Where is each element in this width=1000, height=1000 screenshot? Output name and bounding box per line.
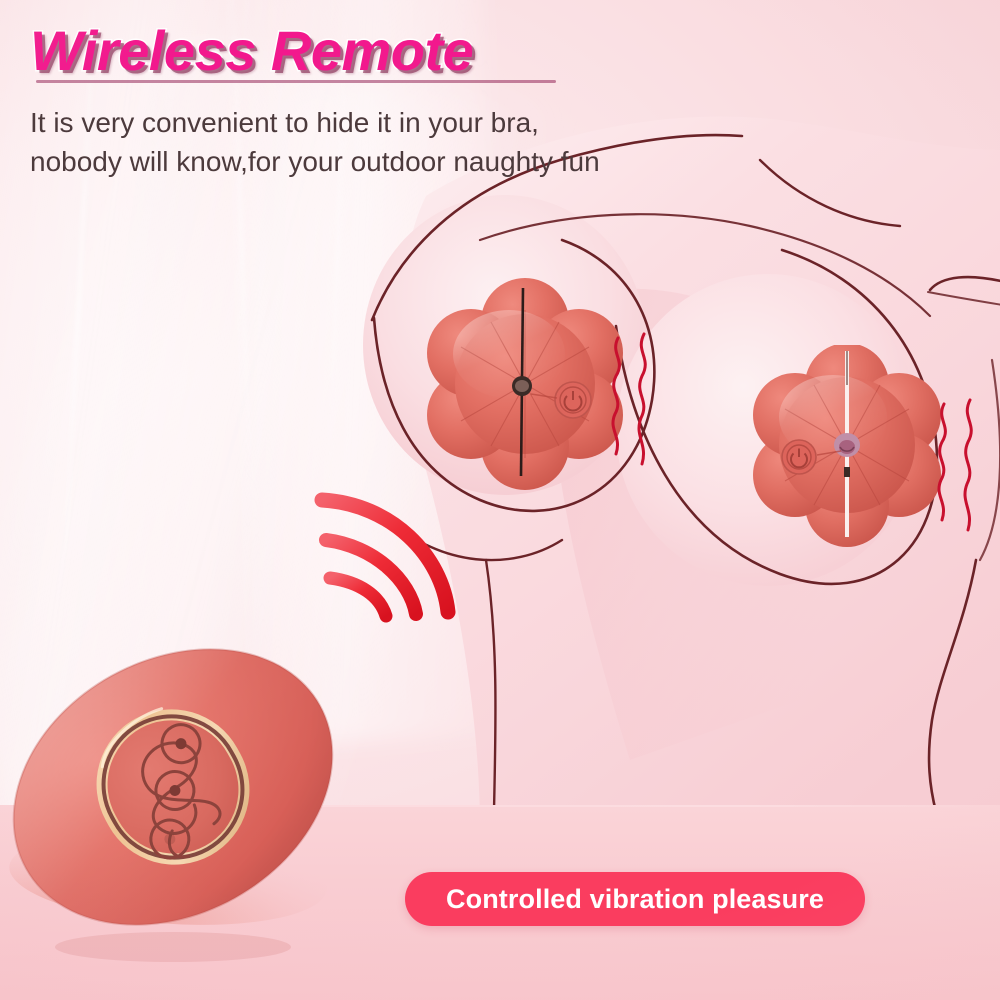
product-image-canvas: Wireless Remote It is very convenient to… — [0, 0, 1000, 1000]
background-vignette — [0, 0, 1000, 1000]
